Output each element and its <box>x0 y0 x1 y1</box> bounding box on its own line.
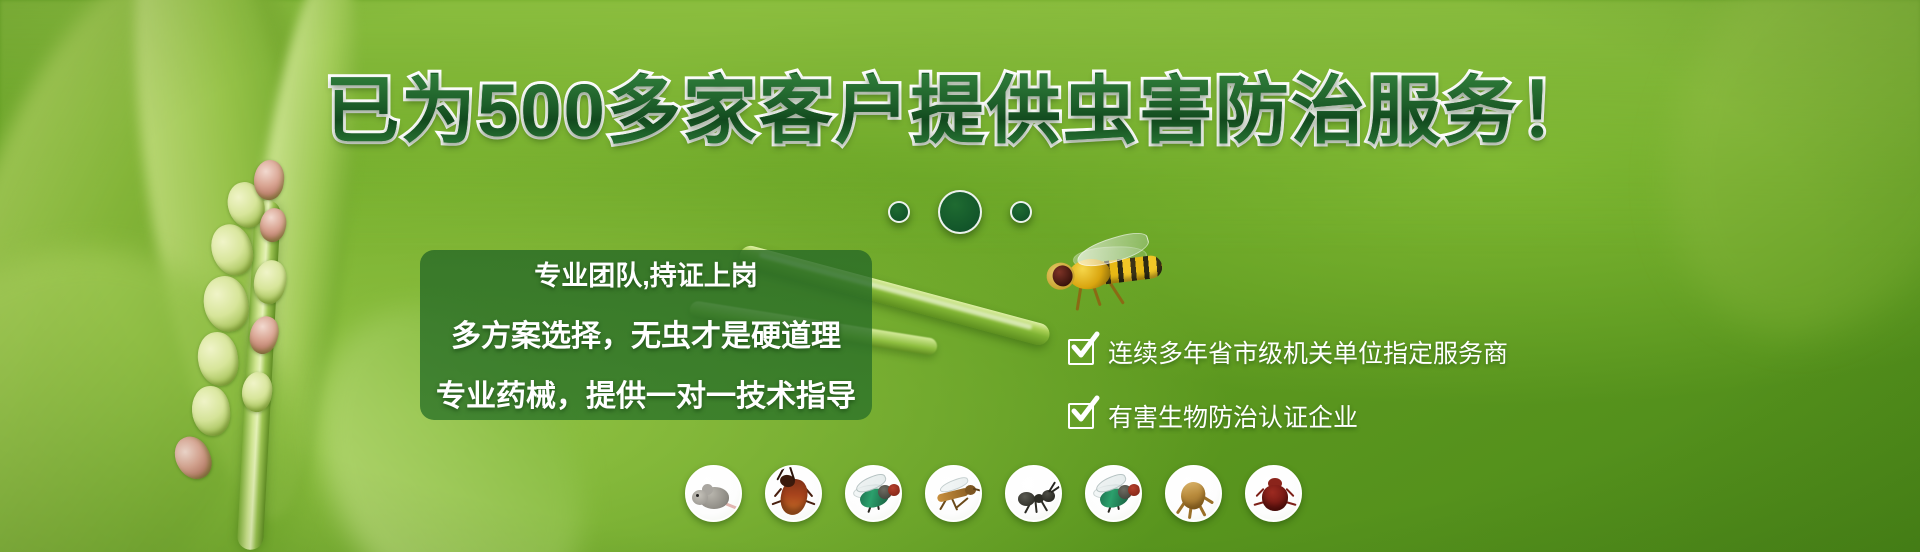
selling-point-line-1: 专业团队,持证上岗 <box>534 254 758 293</box>
pest-type-icon-strip <box>685 465 1302 522</box>
checkbox-checked-icon <box>1068 403 1094 429</box>
bedbug-icon[interactable] <box>1245 465 1302 522</box>
banner-headline: 已为500多家客户提供虫害防治服务！ <box>0 74 1920 148</box>
checklist-item: 有害生物防治认证企业 <box>1068 398 1508 434</box>
pest-control-promo-banner: 已为500多家客户提供虫害防治服务！ 已为500多家客户提供虫害防治服务！ 专业… <box>0 0 1920 552</box>
ant-icon[interactable] <box>1005 465 1062 522</box>
credentials-checklist: 连续多年省市级机关单位指定服务商 有害生物防治认证企业 <box>1068 334 1508 434</box>
mouse-icon[interactable] <box>685 465 742 522</box>
decorative-dot-large-center <box>938 190 982 234</box>
decorative-dot-small-left <box>888 201 910 223</box>
checklist-item-label: 连续多年省市级机关单位指定服务商 <box>1108 334 1508 370</box>
selling-points-panel: 专业团队,持证上岗 多方案选择，无虫才是硬道理 专业药械，提供一对一技术指导 <box>420 250 872 420</box>
housefly-icon[interactable] <box>1085 465 1142 522</box>
decorative-dot-group <box>0 190 1920 234</box>
checkbox-checked-icon <box>1068 339 1094 365</box>
checklist-item-label: 有害生物防治认证企业 <box>1108 398 1358 434</box>
fly-icon[interactable] <box>845 465 902 522</box>
decorative-dot-small-right <box>1010 201 1032 223</box>
cockroach-icon[interactable] <box>765 465 822 522</box>
flea-icon[interactable] <box>1165 465 1222 522</box>
mosquito-icon[interactable] <box>925 465 982 522</box>
checklist-item: 连续多年省市级机关单位指定服务商 <box>1068 334 1508 370</box>
selling-point-line-2: 多方案选择，无虫才是硬道理 <box>451 311 841 355</box>
selling-point-line-3: 专业药械，提供一对一技术指导 <box>436 371 856 415</box>
